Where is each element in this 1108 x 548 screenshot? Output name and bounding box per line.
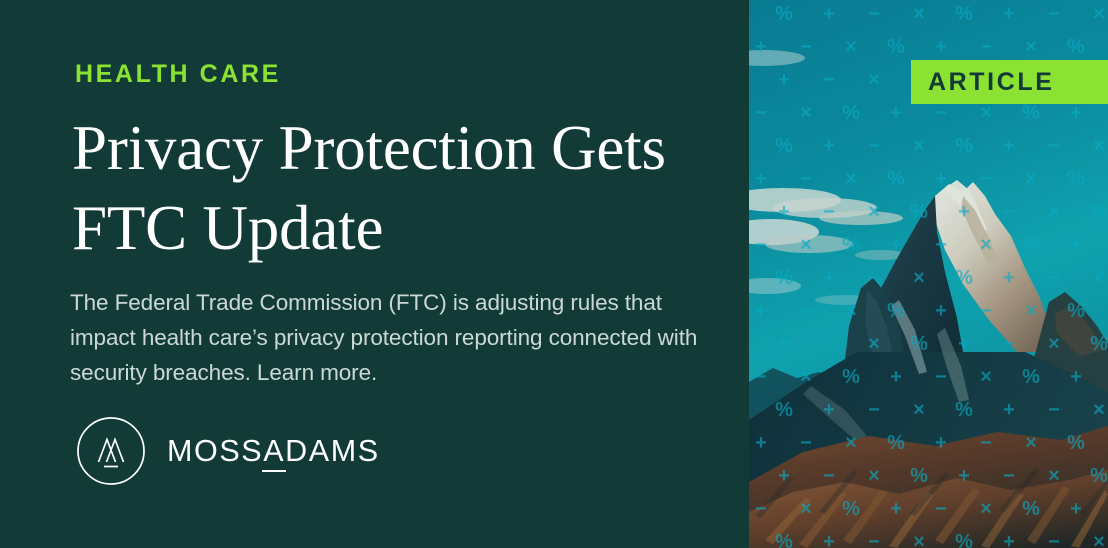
logo-wordmark-dams: DAMS: [285, 434, 380, 468]
moss-adams-logo[interactable]: MOSSADAMS: [76, 416, 380, 486]
logo-wordmark-moss: MOSS: [167, 434, 263, 468]
page-title: Privacy Protection Gets FTC Update: [72, 108, 732, 268]
description-text: The Federal Trade Commission (FTC) is ad…: [70, 285, 720, 390]
moss-adams-mountain-monogram-icon: [76, 416, 146, 486]
category-eyebrow: HEALTH CARE: [75, 62, 281, 87]
article-banner: ×%+−×%+−×%+−×%+−×%+−%+−×%+−×%+−×%+−×%+−×…: [0, 0, 1108, 548]
status-badge: ARTICLE: [911, 60, 1108, 104]
content-panel: HEALTH CARE Privacy Protection Gets FTC …: [0, 0, 749, 548]
logo-wordmark-a-underlined: A: [263, 436, 285, 467]
logo-wordmark: MOSSADAMS: [167, 436, 380, 467]
status-badge-label: ARTICLE: [928, 70, 1055, 95]
